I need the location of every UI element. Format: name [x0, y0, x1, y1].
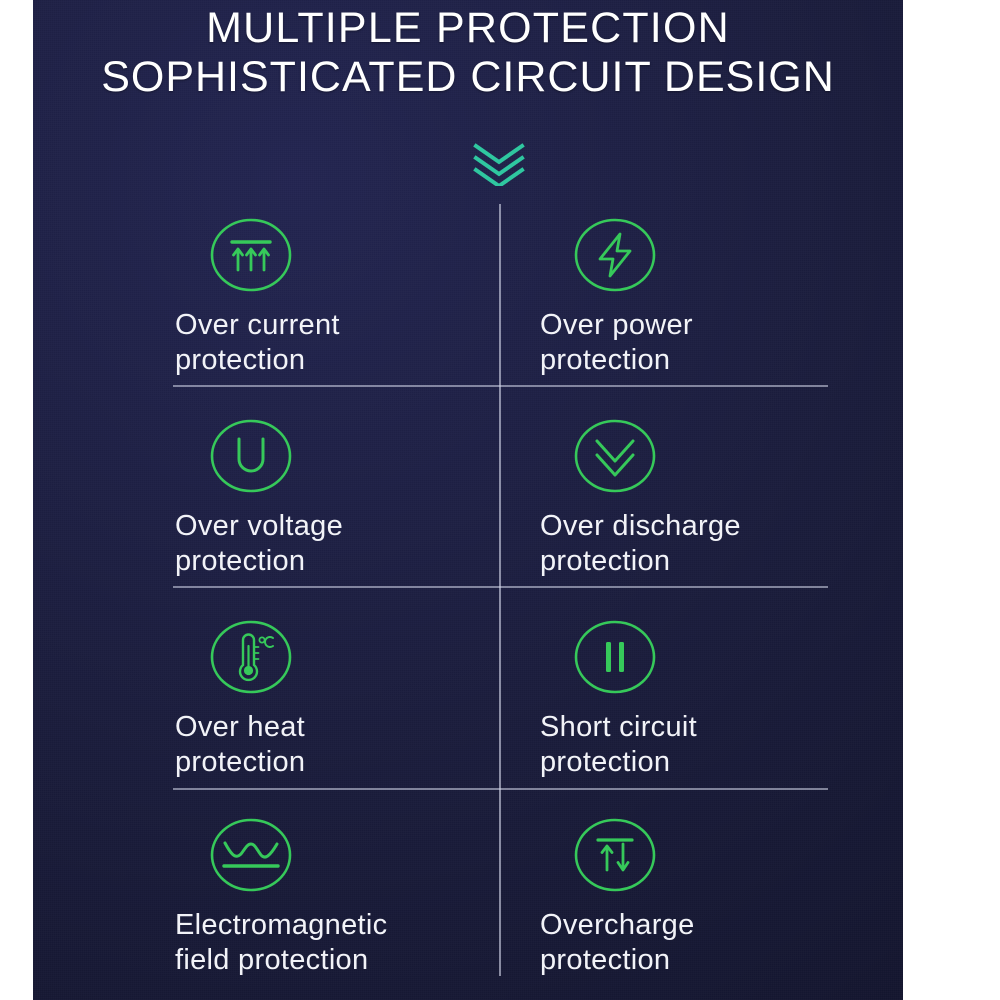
- title-line-1: MULTIPLE PROTECTION: [33, 4, 903, 53]
- feature-item-over-current: Over current protection: [173, 214, 503, 378]
- thermometer-celsius-icon: [205, 616, 297, 698]
- feature-item-over-heat: Over heat protection: [173, 616, 503, 780]
- page-title: MULTIPLE PROTECTION SOPHISTICATED CIRCUI…: [33, 4, 903, 102]
- lightning-bolt-icon: [569, 214, 661, 296]
- grid-horizontal-divider-2: [173, 586, 828, 588]
- grid-horizontal-divider-3: [173, 788, 828, 790]
- protection-features-poster: MULTIPLE PROTECTION SOPHISTICATED CIRCUI…: [0, 0, 1000, 1000]
- over-current-icon: [205, 214, 297, 296]
- feature-label: Overcharge protection: [538, 908, 868, 978]
- waveform-icon: [205, 814, 297, 896]
- feature-item-over-discharge: Over discharge protection: [538, 415, 868, 579]
- voltage-u-icon: [205, 415, 297, 497]
- double-chevron-down-icon: [569, 415, 661, 497]
- feature-label: Over heat protection: [173, 710, 503, 780]
- up-down-arrows-bar-icon: [569, 814, 661, 896]
- feature-label: Over power protection: [538, 308, 868, 378]
- feature-label: Electromagnetic field protection: [173, 908, 503, 978]
- feature-label: Over current protection: [173, 308, 503, 378]
- feature-label: Short circuit protection: [538, 710, 868, 780]
- pause-bars-icon: [569, 616, 661, 698]
- poster-panel: MULTIPLE PROTECTION SOPHISTICATED CIRCUI…: [33, 0, 903, 1000]
- grid-horizontal-divider-1: [173, 385, 828, 387]
- feature-item-over-voltage: Over voltage protection: [173, 415, 503, 579]
- triple-chevron-down-icon: [468, 140, 530, 186]
- feature-item-short-circuit: Short circuit protection: [538, 616, 868, 780]
- feature-label: Over discharge protection: [538, 509, 868, 579]
- feature-item-overcharge: Overcharge protection: [538, 814, 868, 978]
- feature-label: Over voltage protection: [173, 509, 503, 579]
- feature-item-electromagnetic-field: Electromagnetic field protection: [173, 814, 503, 978]
- title-line-2: SOPHISTICATED CIRCUIT DESIGN: [33, 53, 903, 102]
- feature-item-over-power: Over power protection: [538, 214, 868, 378]
